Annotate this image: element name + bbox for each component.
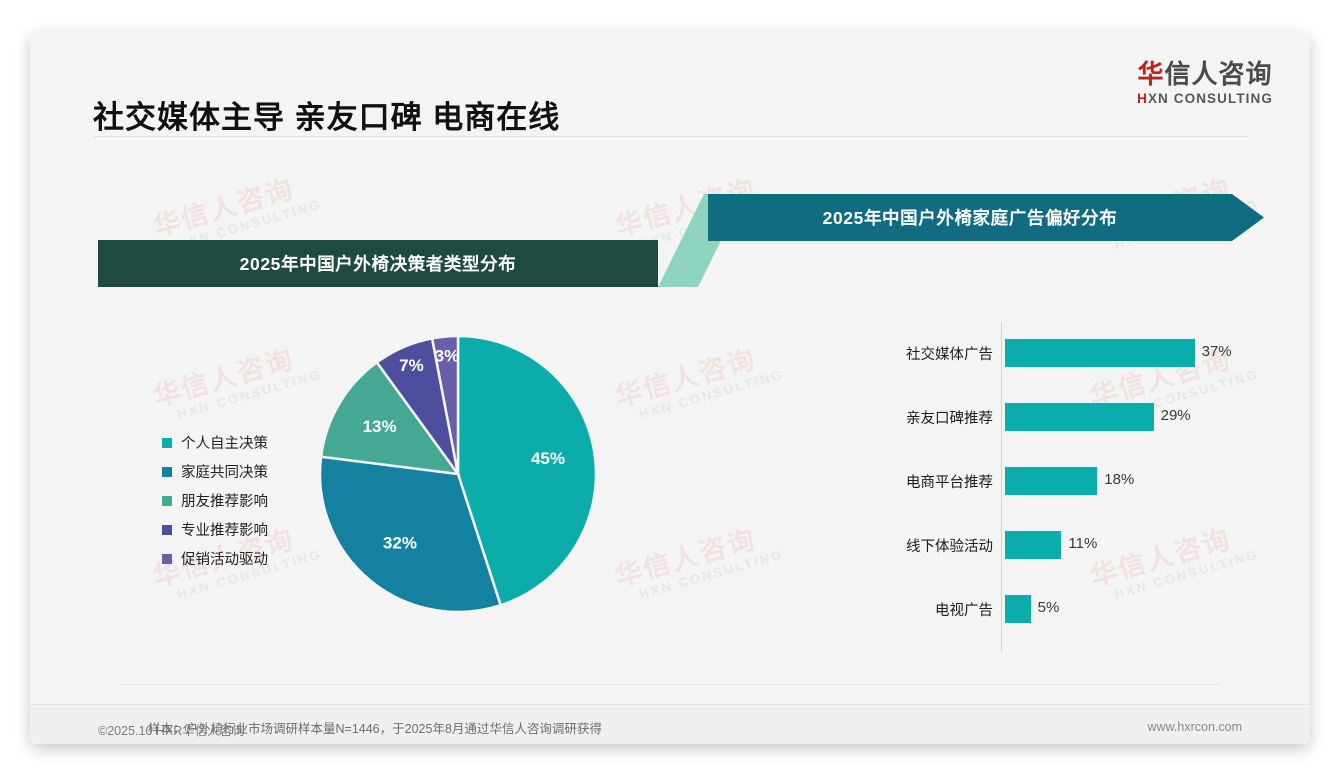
bar-fill bbox=[1005, 595, 1031, 623]
slide-header: 社交媒体主导 亲友口碑 电商在线 华信人咨询 HXN CONSULTING bbox=[30, 32, 1310, 128]
bar-chart-row: 电商平台推荐18% bbox=[790, 464, 1260, 498]
bar-category-label: 线下体验活动 bbox=[790, 535, 1001, 556]
pie-slice-label: 45% bbox=[531, 449, 565, 468]
legend-item: 促销活动驱动 bbox=[162, 544, 268, 573]
bar-fill bbox=[1005, 467, 1097, 495]
logo-english: HXN CONSULTING bbox=[1137, 91, 1273, 106]
legend-item: 专业推荐影响 bbox=[162, 515, 268, 544]
bar-value-label: 11% bbox=[1068, 535, 1097, 552]
legend-swatch-icon bbox=[162, 525, 172, 535]
header-divider bbox=[93, 136, 1248, 137]
watermark-en: HXN CONSULTING bbox=[638, 366, 786, 422]
page-title: 社交媒体主导 亲友口碑 电商在线 bbox=[93, 92, 560, 137]
bar-track: 29% bbox=[1001, 400, 1260, 434]
bar-category-label: 亲友口碑推荐 bbox=[790, 407, 1001, 428]
bar-track: 5% bbox=[1001, 592, 1260, 626]
bar-chart-section: 社交媒体广告37%亲友口碑推荐29%电商平台推荐18%线下体验活动11%电视广告… bbox=[790, 312, 1260, 672]
bar-value-label: 18% bbox=[1104, 471, 1134, 488]
bar-fill bbox=[1005, 531, 1061, 559]
banner-right-label: 2025年中国户外椅家庭广告偏好分布 bbox=[708, 205, 1232, 230]
logo-en-accent: H bbox=[1137, 91, 1148, 106]
banner-left-decision-types: 2025年中国户外椅决策者类型分布 bbox=[98, 240, 658, 287]
source-divider bbox=[120, 684, 1220, 685]
logo-cn-rest: 信人咨询 bbox=[1165, 59, 1273, 89]
legend-label: 朋友推荐影响 bbox=[181, 490, 268, 511]
banner-right-ad-preference: 2025年中国户外椅家庭广告偏好分布 bbox=[708, 194, 1264, 241]
watermark-en: HXN CONSULTING bbox=[638, 546, 786, 602]
legend-item: 朋友推荐影响 bbox=[162, 486, 268, 515]
footer-website: www.hxrcon.com bbox=[1148, 720, 1242, 734]
pie-slice-label: 32% bbox=[383, 534, 417, 553]
bar-chart-row: 线下体验活动11% bbox=[790, 528, 1260, 562]
pie-slice-label: 3% bbox=[435, 347, 460, 366]
pie-legend: 个人自主决策 家庭共同决策 朋友推荐影响 专业推荐影响 促销活动驱动 bbox=[162, 428, 268, 573]
bar-category-label: 社交媒体广告 bbox=[790, 343, 1001, 364]
bar-track: 18% bbox=[1001, 464, 1260, 498]
bar-value-label: 37% bbox=[1202, 343, 1232, 360]
legend-item: 家庭共同决策 bbox=[162, 457, 268, 486]
legend-label: 家庭共同决策 bbox=[181, 461, 268, 482]
legend-swatch-icon bbox=[162, 554, 172, 564]
brand-logo: 华信人咨询 HXN CONSULTING bbox=[1137, 60, 1273, 106]
pie-chart-svg: 45%32%13%7%3% bbox=[318, 334, 598, 614]
bar-track: 37% bbox=[1001, 336, 1260, 370]
pie-chart-section: 个人自主决策 家庭共同决策 朋友推荐影响 专业推荐影响 促销活动驱动 45%32… bbox=[90, 322, 650, 672]
pie-slice-label: 13% bbox=[363, 417, 397, 436]
legend-label: 专业推荐影响 bbox=[181, 519, 268, 540]
banner-left-label: 2025年中国户外椅决策者类型分布 bbox=[240, 251, 517, 276]
legend-swatch-icon bbox=[162, 467, 172, 477]
slide-card: 华信人咨询 HXN CONSULTING 华信人咨询 HXN CONSULTIN… bbox=[30, 32, 1310, 744]
bar-track: 11% bbox=[1001, 528, 1260, 562]
bar-category-label: 电视广告 bbox=[790, 599, 1001, 620]
bar-chart-row: 亲友口碑推荐29% bbox=[790, 400, 1260, 434]
legend-label: 个人自主决策 bbox=[181, 432, 268, 453]
pie-chart: 45%32%13%7%3% bbox=[318, 334, 598, 614]
bar-chart-row: 社交媒体广告37% bbox=[790, 336, 1260, 370]
logo-en-rest: XN CONSULTING bbox=[1148, 91, 1273, 106]
bar-value-label: 5% bbox=[1038, 599, 1060, 616]
logo-cn-accent: 华 bbox=[1138, 59, 1165, 89]
bar-category-label: 电商平台推荐 bbox=[790, 471, 1001, 492]
bar-fill bbox=[1005, 339, 1195, 367]
source-note: 样本：户外椅行业市场调研样本量N=1446，于2025年8月通过华信人咨询调研获… bbox=[148, 718, 602, 737]
logo-chinese: 华信人咨询 bbox=[1137, 60, 1273, 89]
legend-swatch-icon bbox=[162, 496, 172, 506]
pie-slice-label: 7% bbox=[399, 356, 424, 375]
legend-label: 促销活动驱动 bbox=[181, 548, 268, 569]
bar-chart-row: 电视广告5% bbox=[790, 592, 1260, 626]
footer-divider bbox=[30, 704, 1310, 705]
legend-swatch-icon bbox=[162, 438, 172, 448]
bar-value-label: 29% bbox=[1161, 407, 1191, 424]
legend-item: 个人自主决策 bbox=[162, 428, 268, 457]
bar-fill bbox=[1005, 403, 1154, 431]
